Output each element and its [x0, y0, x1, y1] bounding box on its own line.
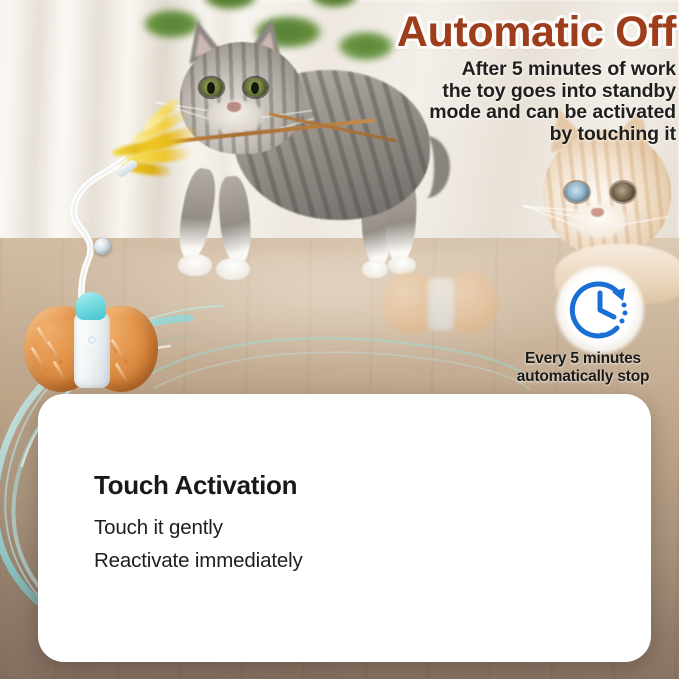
description-text: After 5 minutes of work the toy goes int… — [300, 59, 676, 145]
description-line: After 5 minutes of work — [300, 59, 676, 81]
cat-nose — [227, 102, 241, 112]
timer-badge — [556, 266, 644, 354]
jingle-bell — [94, 238, 111, 255]
cat-nose — [591, 208, 604, 217]
description-line: the toy goes into standby — [300, 81, 676, 103]
cat-toy-product — [18, 120, 238, 400]
toy-top-cap — [76, 292, 106, 320]
description-line: mode and can be activated — [300, 102, 676, 124]
cat-eye — [244, 78, 267, 97]
feature-card-line: Reactivate immediately — [94, 544, 303, 577]
background-toy — [382, 272, 514, 338]
description-line: by touching it — [300, 124, 676, 146]
page-title: Automatic Off — [318, 11, 676, 54]
feature-card-body: Touch it gently Reactivate immediately — [94, 511, 303, 577]
timer-caption-line: automatically stop — [488, 368, 678, 386]
toy-led-indicator — [88, 336, 96, 344]
clock-arrow-icon — [569, 279, 631, 341]
feature-card: Touch Activation Touch it gently Reactiv… — [38, 394, 651, 662]
timer-caption-line: Every 5 minutes — [488, 350, 678, 368]
feature-card-line: Touch it gently — [94, 511, 303, 544]
timer-caption: Every 5 minutes automatically stop — [488, 350, 678, 385]
toy-body — [74, 312, 110, 388]
cat-eye — [200, 78, 223, 97]
cat-eye — [611, 182, 635, 202]
feature-card-title: Touch Activation — [94, 470, 297, 501]
feather-attachment — [126, 114, 246, 190]
toy-ball — [24, 306, 158, 392]
product-feature-image: Automatic Off After 5 minutes of work th… — [0, 0, 679, 679]
cat-eye — [565, 182, 589, 202]
